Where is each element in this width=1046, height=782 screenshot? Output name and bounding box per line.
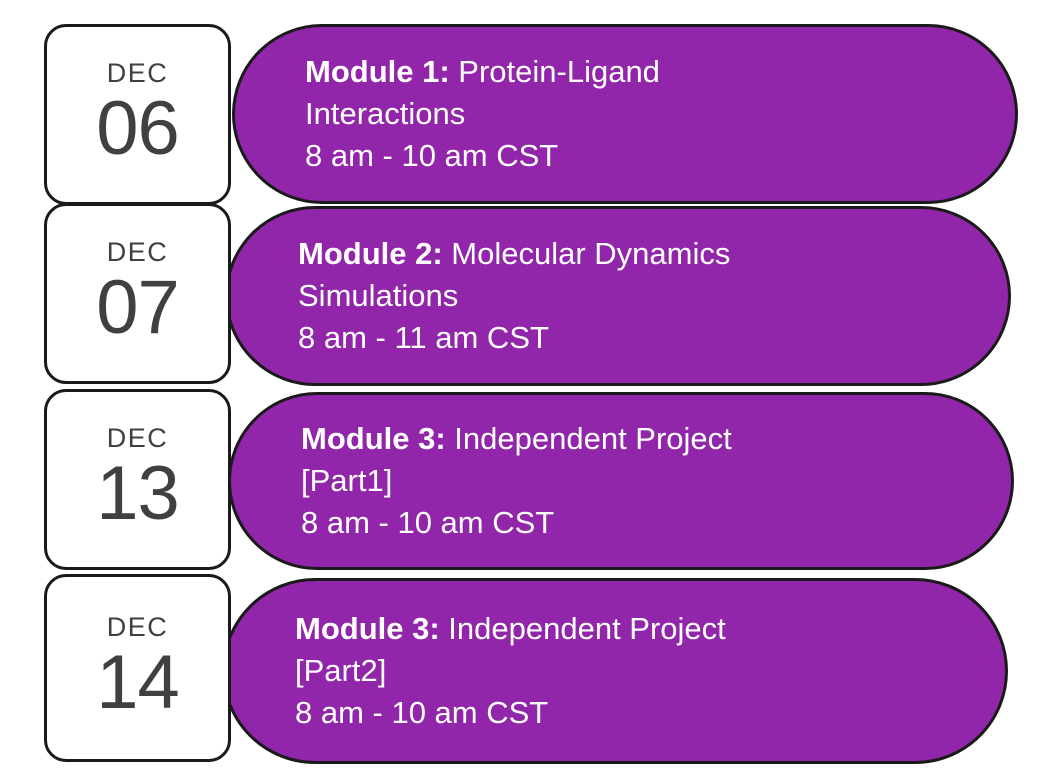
session-time: 8 am - 10 am CST — [305, 135, 975, 177]
session-pill[interactable]: Module 1: Protein-Ligand Interactions 8 … — [232, 24, 1018, 204]
date-card[interactable]: DEC 06 — [44, 24, 231, 205]
module-label: Module 1: — [305, 54, 450, 89]
session-title-line-1: Module 2: Molecular Dynamics — [298, 233, 968, 275]
date-card[interactable]: DEC 14 — [44, 574, 231, 762]
session-title-part1: Molecular Dynamics — [443, 236, 731, 271]
date-month: DEC — [107, 239, 169, 266]
session-title-part1: Protein-Ligand — [450, 54, 660, 89]
date-card[interactable]: DEC 07 — [44, 203, 231, 384]
session-pill[interactable]: Module 3: Independent Project [Part2] 8 … — [222, 578, 1008, 764]
module-label: Module 2: — [298, 236, 443, 271]
session-pill[interactable]: Module 3: Independent Project [Part1] 8 … — [228, 392, 1014, 570]
date-day: 07 — [96, 268, 179, 348]
date-month: DEC — [107, 425, 169, 452]
session-title-line-2: Simulations — [298, 275, 968, 317]
session-title-line-2: Interactions — [305, 93, 975, 135]
session-time: 8 am - 10 am CST — [301, 502, 971, 544]
session-title-line-1: Module 3: Independent Project — [301, 418, 971, 460]
schedule-timeline: Module 1: Protein-Ligand Interactions 8 … — [0, 0, 1046, 782]
date-month: DEC — [107, 60, 169, 87]
date-day: 14 — [96, 643, 179, 723]
date-card[interactable]: DEC 13 — [44, 389, 231, 570]
date-month: DEC — [107, 614, 169, 641]
session-title-line-2: [Part1] — [301, 460, 971, 502]
session-time: 8 am - 11 am CST — [298, 317, 968, 359]
date-day: 13 — [96, 454, 179, 534]
session-title-line-2: [Part2] — [295, 650, 965, 692]
session-pill[interactable]: Module 2: Molecular Dynamics Simulations… — [225, 206, 1011, 386]
session-title-line-1: Module 3: Independent Project — [295, 608, 965, 650]
date-day: 06 — [96, 89, 179, 169]
module-label: Module 3: — [301, 421, 446, 456]
session-title-part1: Independent Project — [440, 611, 726, 646]
session-title-part1: Independent Project — [446, 421, 732, 456]
module-label: Module 3: — [295, 611, 440, 646]
session-title-line-1: Module 1: Protein-Ligand — [305, 51, 975, 93]
session-time: 8 am - 10 am CST — [295, 692, 965, 734]
